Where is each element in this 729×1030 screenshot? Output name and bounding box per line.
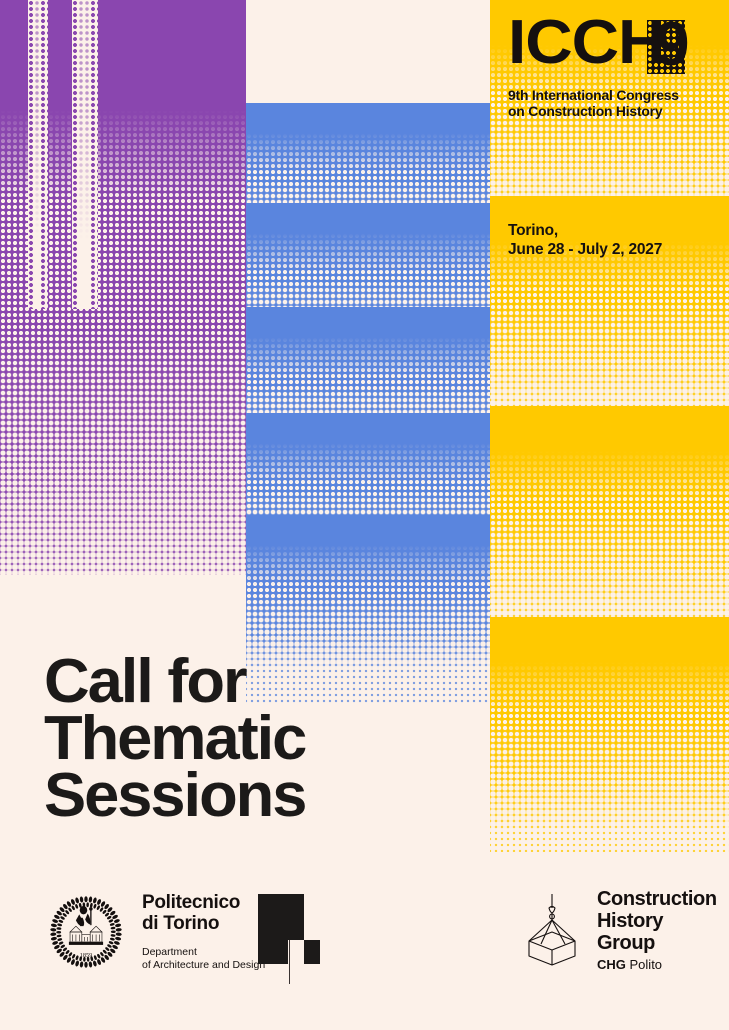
chg-logo: Construction History Group CHG Polito (519, 888, 717, 972)
halftone-yellow-block-3 (490, 406, 729, 621)
purple-cutout-stripe-1 (28, 0, 48, 309)
chg-name: Construction History Group (597, 888, 717, 954)
chg-affiliation: CHG Polito (597, 957, 717, 972)
yellow-halftone-layer-3 (490, 617, 729, 852)
yellow-halftone-layer-3 (490, 406, 729, 621)
footer-logos: 1859 Politecnico di Torino Department of… (0, 880, 729, 1030)
stripe-fade-halftone (28, 0, 48, 309)
halftone-yellow-block-4 (490, 617, 729, 852)
politecnico-department: Department of Architecture and Design (142, 946, 265, 972)
congress-subtitle: 9th International Congress on Constructi… (508, 88, 679, 120)
chg-wordmark: Construction History Group CHG Polito (597, 888, 717, 972)
icch-edition-number: 9 (655, 16, 689, 74)
hoisted-stone-block-icon (519, 894, 585, 966)
chg-affiliation-text: Polito (630, 957, 663, 972)
event-date-location: Torino, June 28 - July 2, 2027 (508, 221, 662, 259)
seal-year: 1859 (80, 952, 93, 959)
chg-acronym: CHG (597, 957, 626, 972)
purple-lower-cream-notch (0, 575, 246, 655)
poster-canvas: ICCH 9 9th International Congress on Con… (0, 0, 729, 1030)
politecnico-name: Politecnico di Torino (142, 892, 265, 934)
politecnico-squares-mark-icon (258, 894, 328, 974)
purple-cutout-stripe-2 (72, 0, 98, 309)
politecnico-wordmark: Politecnico di Torino Department of Arch… (142, 892, 265, 972)
politecnico-seal-icon: 1859 (44, 890, 128, 974)
icch-acronym: ICCH (508, 14, 664, 72)
stripe-fade-halftone (72, 0, 98, 309)
page-title: Call for Thematic Sessions (44, 653, 305, 824)
politecnico-logo: 1859 Politecnico di Torino Department of… (44, 890, 265, 974)
icch-logotype: ICCH 9 (508, 14, 656, 72)
